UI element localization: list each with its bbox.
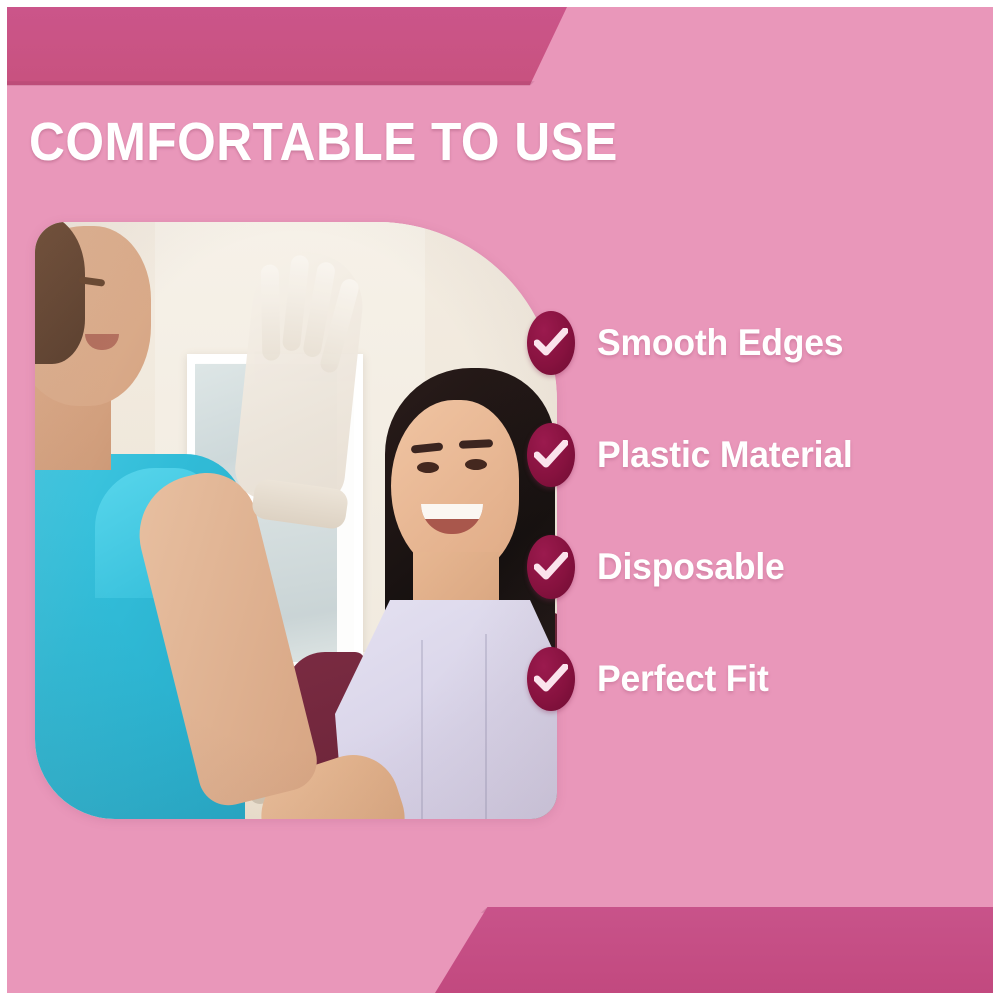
clinic-photo [35, 222, 557, 819]
photo-vignette [35, 222, 557, 819]
list-item: Disposable [527, 511, 967, 623]
feature-label: Perfect Fit [597, 658, 769, 700]
check-icon [527, 535, 575, 599]
top-accent-banner [7, 7, 567, 85]
feature-label: Smooth Edges [597, 322, 843, 364]
feature-list: Smooth Edges Plastic Material Disposable [527, 287, 967, 735]
feature-label: Plastic Material [597, 434, 853, 476]
list-item: Perfect Fit [527, 623, 967, 735]
check-icon [527, 311, 575, 375]
list-item: Plastic Material [527, 399, 967, 511]
top-accent-banner-shadow [7, 81, 535, 86]
check-icon [527, 423, 575, 487]
bottom-accent-banner [435, 907, 993, 993]
list-item: Smooth Edges [527, 287, 967, 399]
check-icon [527, 647, 575, 711]
page-title: COMFORTABLE TO USE [29, 115, 618, 169]
feature-label: Disposable [597, 546, 785, 588]
slide-canvas: COMFORTABLE TO USE [7, 7, 993, 993]
